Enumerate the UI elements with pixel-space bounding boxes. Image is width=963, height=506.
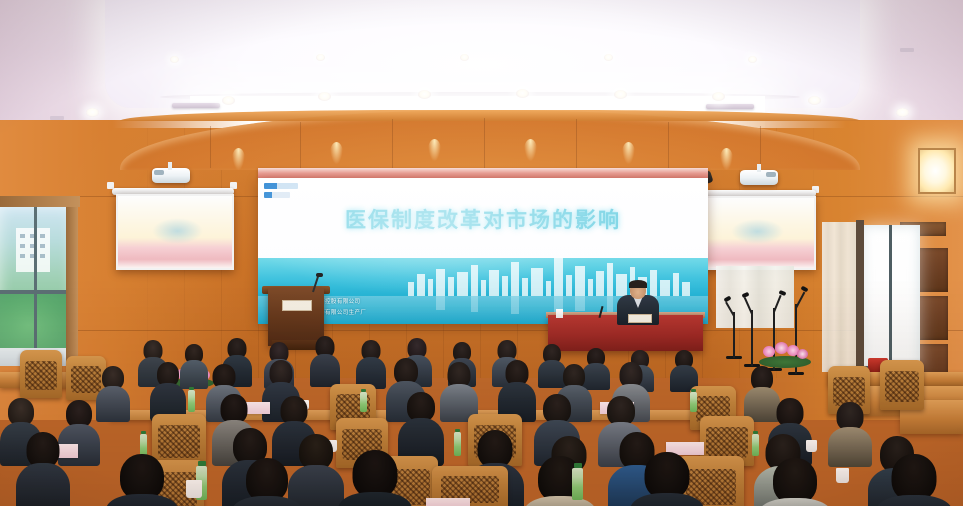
right-projection-screen <box>694 196 816 270</box>
wall-lamp <box>918 148 956 194</box>
cornice-seam <box>576 119 577 168</box>
cornice-downlight-glow <box>330 142 343 164</box>
skyline-building <box>408 282 414 296</box>
slide-title: 医保制度改革对市场的影响 <box>258 204 708 234</box>
bottle-cap <box>574 463 582 468</box>
logo-bar <box>264 192 290 198</box>
skyline-building <box>436 269 445 296</box>
skyline-building <box>554 258 563 296</box>
person-head <box>892 454 937 501</box>
bottle-cap <box>198 461 206 466</box>
head-table-nameplate <box>628 314 652 323</box>
conference-hall-photo: 医保制度改革对市场的影响 <box>0 0 963 506</box>
projector-lens <box>154 170 164 175</box>
skyline-building <box>673 273 679 296</box>
window-building <box>16 228 50 272</box>
person-torso <box>876 495 952 506</box>
cornice-lip <box>120 110 860 121</box>
cornice-seam <box>300 122 301 168</box>
skyline-reflection-building <box>511 296 519 314</box>
skyline-building <box>417 274 425 296</box>
cornice-seam <box>668 122 669 168</box>
skyline-reflection-building <box>575 296 585 311</box>
window-mullion <box>34 206 37 348</box>
cornice-seam <box>484 118 485 168</box>
skyline-building <box>682 282 690 296</box>
right-screen-blur <box>731 219 784 244</box>
skyline-building <box>489 270 499 296</box>
person-head <box>353 450 398 498</box>
ceiling-downlight <box>418 90 431 99</box>
ceiling-vent <box>900 48 914 52</box>
person-torso <box>524 496 596 506</box>
person-head <box>645 452 690 499</box>
lectern-nameplate <box>282 300 312 311</box>
audience-person <box>524 456 596 506</box>
skyline-reflection-building <box>436 296 445 310</box>
projector-mount <box>757 164 761 172</box>
skyline-building <box>596 271 604 296</box>
paper-cup <box>186 480 202 498</box>
cornice-seam <box>760 126 761 168</box>
handout-paper <box>426 498 470 506</box>
skyline-building <box>457 272 468 296</box>
ceiling-downlight <box>170 56 179 63</box>
audience-person <box>630 452 704 506</box>
person-torso <box>630 493 704 506</box>
ceiling-air-slot <box>706 104 754 109</box>
skyline-reflection-building <box>607 296 613 313</box>
right-ceiling-projector <box>740 170 778 185</box>
skyline-building <box>588 279 593 296</box>
skyline-building <box>575 266 585 296</box>
left-projection-screen <box>116 194 234 270</box>
cornice-downlight-glow <box>720 148 733 170</box>
skyline-building <box>481 280 486 296</box>
speaker-hair <box>629 280 647 288</box>
cornice-downlight-glow <box>524 139 537 161</box>
ceiling-downlight <box>808 96 821 105</box>
ceiling-downlight <box>460 54 469 61</box>
person-torso <box>232 496 302 506</box>
water-bottle <box>572 468 583 500</box>
projector-lens <box>766 172 776 177</box>
ceiling-downlight <box>604 54 613 61</box>
projector-mount <box>168 162 172 170</box>
skyline-building <box>448 277 454 296</box>
ceiling-downlight <box>614 90 627 99</box>
skyline-building <box>607 263 613 296</box>
ceiling-air-slot <box>172 103 220 108</box>
cornice-downlight-glow <box>622 142 635 164</box>
cornice-seam <box>210 126 211 168</box>
ceiling-downlight <box>318 92 331 101</box>
slide-logo-icon <box>264 183 298 200</box>
audience-person <box>106 454 178 506</box>
audience-person <box>876 454 952 506</box>
skyline-building <box>566 275 572 296</box>
cornice-seam <box>392 119 393 168</box>
person-torso <box>338 492 412 506</box>
audience-person <box>232 458 302 506</box>
ceiling-downlight <box>222 96 235 105</box>
ceiling-downlight <box>748 56 757 63</box>
skyline-reflection-building <box>471 296 478 312</box>
ceiling-downlight <box>316 54 325 61</box>
person-torso <box>106 494 178 506</box>
skyline-building <box>531 268 543 296</box>
lectern-microphone-head <box>316 273 323 277</box>
audience-person <box>758 458 832 506</box>
skyline-building <box>522 278 528 296</box>
skyline-building <box>511 262 519 296</box>
left-ceiling-projector <box>152 168 190 183</box>
logo-bar <box>264 183 298 189</box>
left-screen-blur <box>152 218 203 244</box>
person-torso <box>758 498 832 506</box>
ceiling-downlight <box>516 89 529 98</box>
audience-person <box>338 450 412 506</box>
audience-row <box>0 440 963 506</box>
ceiling-downlight <box>86 108 99 117</box>
head-table-cup <box>556 309 563 318</box>
skyline-building <box>471 265 478 296</box>
window-frame <box>0 196 80 207</box>
skyline-building <box>660 280 670 296</box>
skyline-building <box>546 281 551 296</box>
skyline-building <box>428 279 433 296</box>
ceiling-downlight <box>712 92 725 101</box>
cornice-downlight-glow <box>428 139 441 161</box>
cornice-downlight-glow <box>232 148 245 170</box>
skyline-building <box>502 276 508 296</box>
ceiling-downlight <box>896 108 909 117</box>
